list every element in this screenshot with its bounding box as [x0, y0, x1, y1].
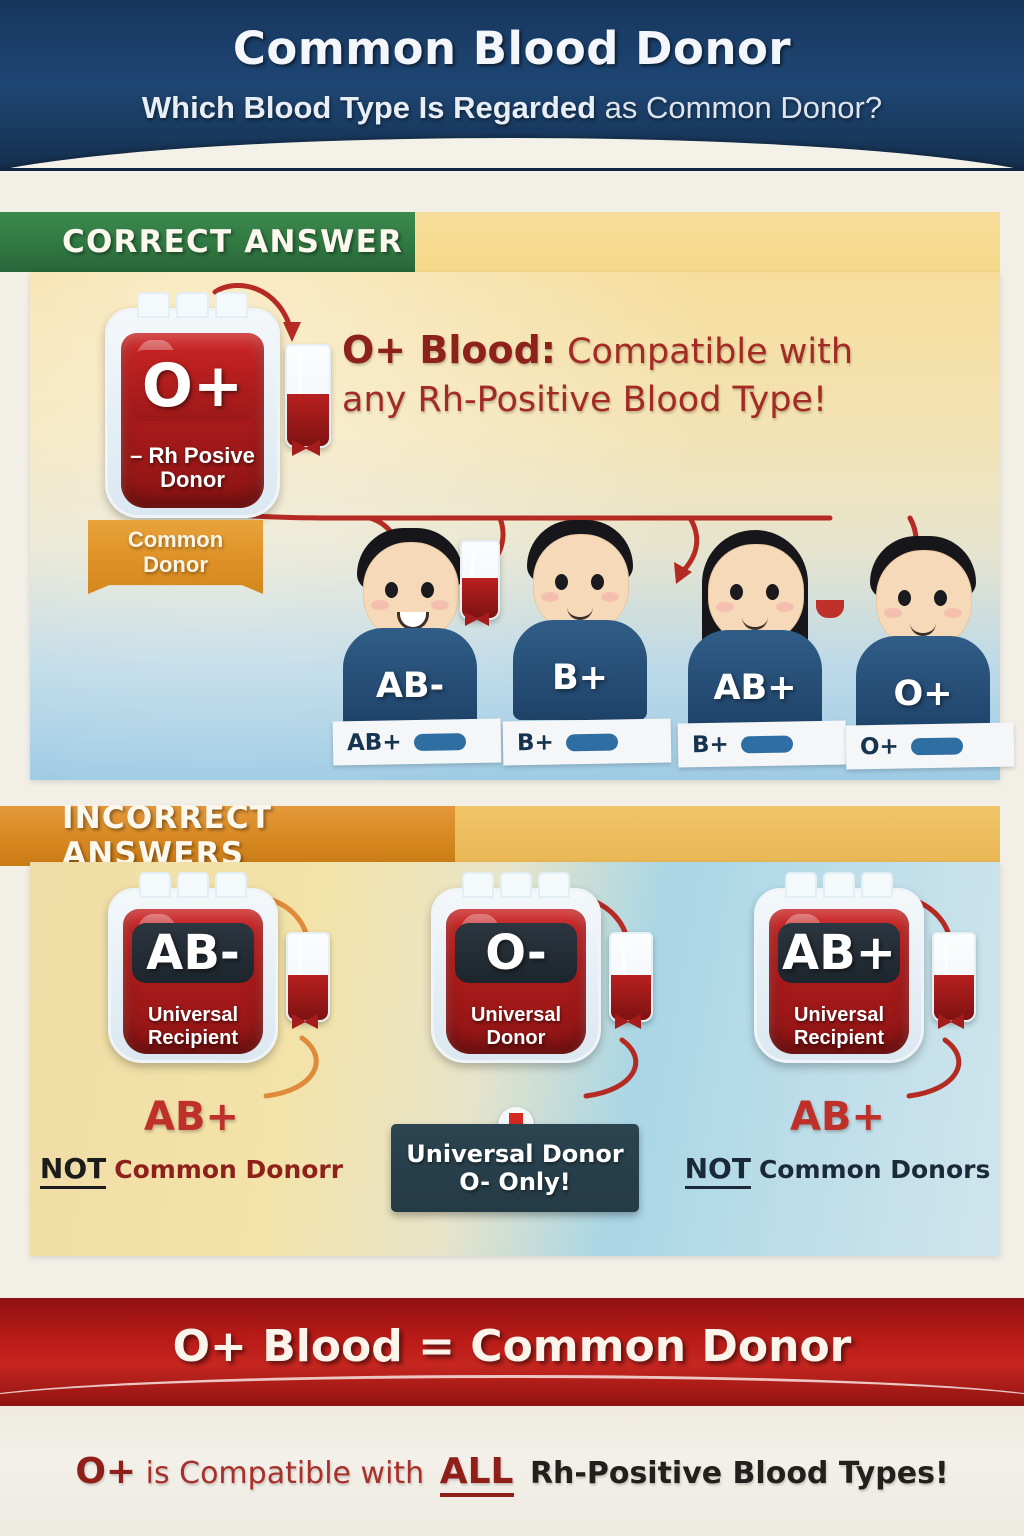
incorrect-blood-bag-2: O- Universal Donor [431, 888, 601, 1063]
incorrect-note-3: NOTCommon Donors [676, 1152, 999, 1185]
incorrect-blood-bag-1: AB- Universal Recipient [108, 888, 278, 1063]
recipient-person-4: O+ [848, 524, 998, 739]
bag-type-plate: O+ [130, 350, 256, 421]
incorrect-card-2: O- Universal Donor Universal Donor O- On… [353, 862, 676, 1256]
blush-right-icon [776, 602, 794, 612]
eye-right-icon [766, 584, 779, 600]
recipient-shirt-type: B+ [505, 658, 655, 698]
recipient-shirt-type: AB+ [680, 668, 830, 708]
universal-donor-callout: Universal Donor O- Only! [391, 1124, 639, 1212]
incorrect-banner-strip [455, 806, 1000, 862]
infographic-poster: Common Blood Donor Which Blood Type Is R… [0, 0, 1024, 1536]
eye-left-icon [555, 574, 568, 590]
recipient-strip-label: O+ [860, 734, 899, 761]
eye-left-icon [898, 590, 911, 606]
recipient-strip-label: B+ [692, 732, 729, 759]
bag-type-plate: AB- [132, 923, 254, 983]
bag-caption-line1: Universal [794, 1004, 884, 1026]
eye-right-icon [421, 582, 434, 598]
blush-left-icon [541, 592, 559, 602]
incorrect-big-type-3: AB+ [676, 1094, 999, 1140]
incorrect-bag-caption: Universal Recipient [764, 1004, 914, 1049]
poster-footer: O+ is Compatible with ALL Rh-Positive Bl… [0, 1406, 1024, 1536]
recipient-name-strip-2: B+ [503, 719, 672, 766]
tag-line-2: Donor [143, 552, 208, 577]
not-rest: Common Donors [759, 1155, 990, 1184]
eye-right-icon [934, 590, 947, 606]
recipient-person-3: AB+ [680, 518, 830, 733]
bag-type-plate: O- [455, 923, 577, 983]
blush-right-icon [601, 592, 619, 602]
incorrect-answers-banner: INCORRECT ANSWERS [0, 806, 455, 866]
subtitle-light: as Common Donor? [596, 90, 882, 125]
blush-right-icon [944, 608, 962, 618]
correct-banner-label: CORRECT ANSWER [0, 224, 403, 260]
bag-neck-ports [462, 872, 571, 898]
recipient-shirt-type: AB- [335, 666, 485, 706]
bag-type-plate: AB+ [778, 923, 900, 983]
recipient-shirt-type: O+ [848, 674, 998, 714]
footer-line: O+ is Compatible with ALL Rh-Positive Bl… [75, 1451, 948, 1492]
drip-blood-level [611, 975, 651, 1020]
page-title: Common Blood Donor [0, 22, 1024, 75]
bag-caption-line1: Universal [471, 1004, 561, 1026]
bag-caption-line2: Donor [487, 1027, 546, 1049]
strip-pill-icon [566, 733, 618, 751]
callout-line-2: O- Only! [459, 1168, 570, 1196]
recipient-name-strip-4: O+ [846, 723, 1015, 770]
drip-chamber-icon [286, 932, 330, 1022]
correct-banner-strip [415, 212, 1000, 272]
donor-bag-caption: – Rh Posive Donor [116, 444, 270, 493]
blush-left-icon [371, 600, 389, 610]
blush-left-icon [716, 602, 734, 612]
eye-left-icon [385, 582, 398, 598]
donor-blood-bag: O+ – Rh Posive Donor [105, 308, 280, 518]
incorrect-big-type-1: AB+ [30, 1094, 353, 1140]
drip-blood-level [287, 394, 329, 446]
incorrect-note-1: NOTCommon Donorr [30, 1152, 353, 1185]
small-drip-chamber-icon [460, 540, 500, 620]
bag-neck-ports [785, 872, 894, 898]
bag-neck-ports [139, 872, 248, 898]
donor-caption-line1: – Rh Posive [130, 443, 255, 468]
drip-chamber-icon [932, 932, 976, 1022]
incorrect-blood-type: AB+ [782, 925, 896, 981]
tag-line-1: Common [128, 527, 223, 552]
drip-blood-level [934, 975, 974, 1020]
drip-blood-level [288, 975, 328, 1020]
not-word: NOT [685, 1152, 751, 1189]
recipient-person-2: B+ [505, 508, 655, 723]
page-subtitle: Which Blood Type Is Regarded as Common D… [0, 90, 1024, 126]
headline-line-2: any Rh-Positive Blood Type! [342, 379, 902, 423]
incorrect-bag-caption: Universal Donor [441, 1004, 591, 1049]
strip-pill-icon [741, 735, 793, 753]
incorrect-card-3: AB+ Universal Recipient AB+ NOTCommon Do… [676, 862, 999, 1256]
correct-answer-panel: O+ – Rh Posive Donor O+ Blood: Compatibl… [30, 272, 1000, 780]
eye-right-icon [591, 574, 604, 590]
subtitle-bold: Which Blood Type Is Regarded [142, 90, 596, 125]
incorrect-card-1: AB- Universal Recipient AB+ NOTCommon Do… [30, 862, 353, 1256]
drip-chamber-icon [609, 932, 653, 1022]
incorrect-answers-panel: AB- Universal Recipient AB+ NOTCommon Do… [30, 862, 1000, 1256]
not-rest: Common Donorr [114, 1155, 343, 1184]
bag-caption-line1: Universal [148, 1004, 238, 1026]
correct-answer-banner: CORRECT ANSWER [0, 212, 415, 272]
headline-line-1: O+ Blood: Compatible with [342, 327, 902, 375]
strip-pill-icon [911, 737, 963, 755]
correct-headline: O+ Blood: Compatible with any Rh-Positiv… [342, 327, 902, 423]
donor-blood-type: O+ [142, 351, 243, 421]
eye-left-icon [730, 584, 743, 600]
not-word: NOT [40, 1152, 106, 1189]
recipient-strip-label: AB+ [347, 729, 402, 756]
footer-part-3: ALL [440, 1451, 514, 1497]
headline-rest: Compatible with [556, 332, 853, 372]
bag-caption-line2: Recipient [148, 1027, 238, 1049]
incorrect-blood-type: O- [485, 925, 547, 981]
callout-line-1: Universal Donor [406, 1140, 623, 1168]
bag-neck-ports [137, 292, 249, 318]
incorrect-blood-type: AB- [146, 925, 240, 981]
headline-bold: O+ Blood: [342, 328, 556, 372]
poster-header: Common Blood Donor Which Blood Type Is R… [0, 0, 1024, 171]
common-donor-tag: Common Donor [88, 520, 263, 594]
donor-caption-line2: Donor [160, 467, 225, 492]
drip-blood-level [462, 578, 498, 618]
recipient-strip-label: B+ [517, 730, 554, 757]
blush-left-icon [884, 608, 902, 618]
common-donor-tag-text: Common Donor [128, 520, 223, 577]
footer-part-2: is Compatible with [136, 1456, 434, 1491]
drip-chamber-icon [285, 344, 331, 448]
footer-part-1: O+ [75, 1451, 136, 1492]
recipient-name-strip-3: B+ [678, 721, 847, 768]
incorrect-blood-bag-3: AB+ Universal Recipient [754, 888, 924, 1063]
incorrect-bag-caption: Universal Recipient [118, 1004, 268, 1049]
summary-red-banner: O+ Blood = Common Donor [0, 1298, 1024, 1406]
recipient-name-strip-1: AB+ [333, 719, 502, 766]
strip-pill-icon [413, 733, 465, 751]
footer-part-4: Rh-Positive Blood Types! [520, 1456, 949, 1491]
bag-caption-line2: Recipient [794, 1027, 884, 1049]
blush-right-icon [431, 600, 449, 610]
summary-banner-text: O+ Blood = Common Donor [173, 1321, 852, 1372]
